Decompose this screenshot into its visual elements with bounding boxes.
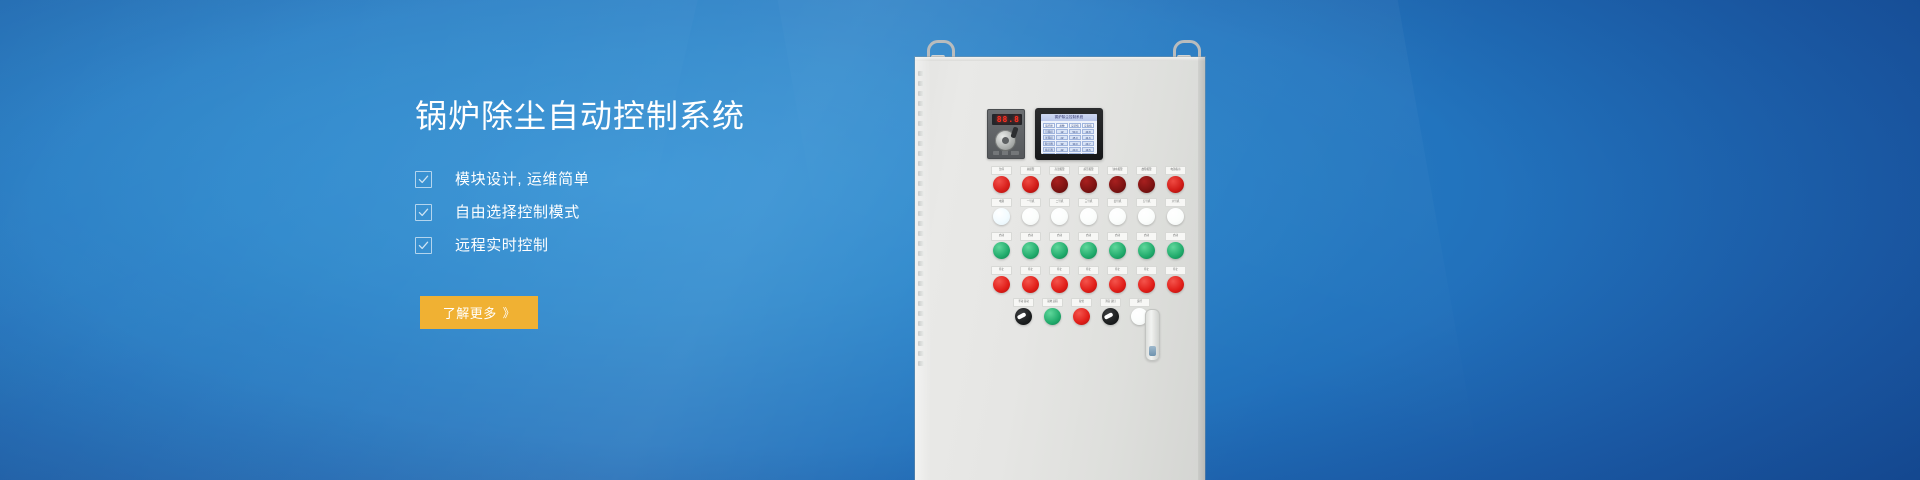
push-button-icon[interactable] xyxy=(1109,276,1126,293)
hinge-segment xyxy=(918,81,924,86)
panel-button-label: 消音 试灯 xyxy=(1100,298,1121,307)
learn-more-label: 了解更多 xyxy=(443,303,497,322)
hmi-table-row: 运行状态参数设定值实际值 xyxy=(1043,123,1095,128)
indicator-icon[interactable] xyxy=(1051,208,1068,225)
hinge-segment xyxy=(918,131,924,136)
cabinet-body: 88.8 锅炉除尘控制系统 运行状态参数设定值实际值引风机1#50.049.8送… xyxy=(915,57,1205,480)
hmi-table-cell: 设定值 xyxy=(1069,123,1081,128)
hmi-table-cell: — xyxy=(1056,153,1068,154)
emergency-stop-icon[interactable] xyxy=(993,176,1010,193)
panel-button-label: 启动 xyxy=(1136,232,1157,241)
checkbox-check-icon xyxy=(415,204,432,221)
hinge-segment xyxy=(918,151,924,156)
panel-button-label: 启动 xyxy=(1078,232,1099,241)
panel-button-label: 急停 xyxy=(991,166,1012,175)
panel-button-label: 停止 xyxy=(1078,266,1099,275)
vfd-led-display: 88.8 xyxy=(992,114,1022,125)
hmi-table-row: 送风机2#45.044.6 xyxy=(1043,135,1095,140)
push-button-icon[interactable] xyxy=(1167,242,1184,259)
hmi-table-cell: 参数 xyxy=(1056,123,1068,128)
vfd-keypad[interactable] xyxy=(993,151,1019,155)
push-button-icon[interactable] xyxy=(1080,276,1097,293)
push-button-icon[interactable] xyxy=(1167,276,1184,293)
indicator-icon[interactable] xyxy=(1051,176,1068,193)
hmi-table-cell: 实际值 xyxy=(1082,123,1094,128)
push-button-icon[interactable] xyxy=(1109,242,1126,259)
panel-button-label: 停止 xyxy=(991,266,1012,275)
indicator-icon[interactable] xyxy=(1109,208,1126,225)
panel-button-label: 就地 远程 xyxy=(1042,298,1063,307)
hmi-table-cell: 除尘器 xyxy=(1043,141,1055,146)
hmi-screen-title: 锅炉除尘控制系统 xyxy=(1041,114,1097,121)
selector-switch-icon[interactable] xyxy=(1102,308,1119,325)
hmi-table-cell: 运行状态 xyxy=(1043,123,1055,128)
hmi-table-cell: 44.6 xyxy=(1082,135,1094,140)
hinge-segment xyxy=(918,341,924,346)
hinge-segment xyxy=(918,121,924,126)
hinge-segment xyxy=(918,101,924,106)
indicator-icon[interactable] xyxy=(1080,176,1097,193)
hinge-segment xyxy=(918,91,924,96)
learn-more-button[interactable]: 了解更多 》 xyxy=(420,296,538,329)
push-button-icon[interactable] xyxy=(1080,242,1097,259)
panel-button-label: 停止 xyxy=(1107,266,1128,275)
hmi-table-cell: 报警 xyxy=(1043,153,1055,154)
vfd-dial-pointer-icon xyxy=(1010,126,1018,138)
cabinet-top-edge xyxy=(915,57,1205,61)
indicator-icon[interactable] xyxy=(1167,208,1184,225)
hmi-table-row: 引风机1#50.049.8 xyxy=(1043,129,1095,134)
hinge-segment xyxy=(918,141,924,146)
hmi-data-table: 运行状态参数设定值实际值引风机1#50.049.8送风机2#45.044.6除尘… xyxy=(1043,123,1095,152)
checkbox-check-icon xyxy=(415,171,432,188)
list-item: 模块设计, 运维简单 xyxy=(415,163,935,196)
indicator-icon[interactable] xyxy=(1109,176,1126,193)
hmi-table-cell: 30.0 xyxy=(1069,141,1081,146)
panel-button-label: 停止 xyxy=(1165,266,1186,275)
panel-button-label: 电源指示 xyxy=(1165,166,1186,175)
push-button-icon[interactable] xyxy=(1138,242,1155,259)
feature-list: 模块设计, 运维简单 自由选择控制模式 远程实时控制 xyxy=(415,163,935,262)
panel-button-label: 运行 xyxy=(1129,298,1150,307)
banner-stage: 锅炉除尘自动控制系统 模块设计, 运维简单 自由选择控制模式 远程实时控制 xyxy=(0,0,1920,480)
hmi-touchscreen[interactable]: 锅炉除尘控制系统 运行状态参数设定值实际值引风机1#50.049.8送风机2#4… xyxy=(1035,108,1103,160)
hinge-segment xyxy=(918,161,924,166)
hinge-segment xyxy=(918,361,924,366)
hmi-table-cell: 振打器 xyxy=(1043,147,1055,152)
panel-button-label: 六号机 xyxy=(1165,198,1186,207)
hmi-table-cell: 49.8 xyxy=(1082,129,1094,134)
push-button-icon[interactable] xyxy=(993,276,1010,293)
panel-button-label: 停止 xyxy=(1136,266,1157,275)
panel-button-label: 一号机 xyxy=(1020,198,1041,207)
list-item: 远程实时控制 xyxy=(415,229,935,262)
vfd-display-value: 88.8 xyxy=(997,116,1020,124)
hmi-table-cell: 引风机 xyxy=(1043,129,1055,134)
panel-button-label: 启动 xyxy=(991,232,1012,241)
panel-button-label: 启动 xyxy=(1049,232,1070,241)
hinge-segment xyxy=(918,351,924,356)
hmi-table-cell: 送风机 xyxy=(1043,135,1055,140)
hmi-table-cell: 29.7 xyxy=(1082,141,1094,146)
start-button-row: 启动启动启动启动启动启动启动 xyxy=(915,241,1205,269)
indicator-icon[interactable] xyxy=(1044,308,1061,325)
power-indicator-row: 电源一号机二号机三号机四号机五号机六号机 xyxy=(915,207,1205,235)
control-cabinet-image: 88.8 锅炉除尘控制系统 运行状态参数设定值实际值引风机1#50.049.8送… xyxy=(905,0,1225,480)
push-button-icon[interactable] xyxy=(1022,276,1039,293)
panel-button-label: 停止 xyxy=(1020,266,1041,275)
panel-button-label: 停止 xyxy=(1049,266,1070,275)
checkbox-check-icon xyxy=(415,237,432,254)
panel-button-label: 高温报警 xyxy=(1049,166,1070,175)
push-button-icon[interactable] xyxy=(1073,308,1090,325)
push-button-icon[interactable] xyxy=(1138,276,1155,293)
panel-button-label: 四号机 xyxy=(1107,198,1128,207)
hmi-table-row: 报警—0正常 xyxy=(1043,153,1095,154)
door-handle[interactable] xyxy=(1145,309,1160,361)
panel-button-label: 启动 xyxy=(1165,232,1186,241)
push-button-icon[interactable] xyxy=(1022,242,1039,259)
indicator-icon[interactable] xyxy=(1167,176,1184,193)
panel-button-label: 启动 xyxy=(1107,232,1128,241)
indicator-icon[interactable] xyxy=(1080,208,1097,225)
indicator-icon[interactable] xyxy=(1022,176,1039,193)
panel-button-label: 缺水报警 xyxy=(1107,166,1128,175)
panel-button-label: 总报警 xyxy=(1020,166,1041,175)
vfd-inverter-module[interactable]: 88.8 xyxy=(987,109,1025,159)
selector-switch-row: 手动 自动就地 远程复位消音 试灯运行 xyxy=(915,307,1205,335)
feature-label-2: 自由选择控制模式 xyxy=(455,205,580,220)
hinge-segment xyxy=(918,111,924,116)
panel-button-label: 故障报警 xyxy=(1136,166,1157,175)
hmi-table-cell: 20.0 xyxy=(1069,147,1081,152)
panel-button-label: 二号机 xyxy=(1049,198,1070,207)
push-button-icon[interactable] xyxy=(1051,276,1068,293)
hmi-table-cell: 0 xyxy=(1069,153,1081,154)
indicator-icon[interactable] xyxy=(1138,208,1155,225)
banner-copy: 锅炉除尘自动控制系统 模块设计, 运维简单 自由选择控制模式 远程实时控制 xyxy=(415,96,935,262)
hmi-table-cell: 19.5 xyxy=(1082,147,1094,152)
indicator-icon[interactable] xyxy=(993,208,1010,225)
hmi-table-cell: 2# xyxy=(1056,135,1068,140)
selector-switch-icon[interactable] xyxy=(1015,308,1032,325)
panel-button-label: 三号机 xyxy=(1078,198,1099,207)
indicator-icon[interactable] xyxy=(1022,208,1039,225)
panel-button-label: 五号机 xyxy=(1136,198,1157,207)
panel-button-label: 电源 xyxy=(991,198,1012,207)
hmi-screen[interactable]: 锅炉除尘控制系统 运行状态参数设定值实际值引风机1#50.049.8送风机2#4… xyxy=(1041,114,1097,154)
feature-label-3: 远程实时控制 xyxy=(455,238,549,253)
push-button-icon[interactable] xyxy=(1051,242,1068,259)
hmi-table-cell: 50.0 xyxy=(1069,129,1081,134)
panel-button-label: 复位 xyxy=(1071,298,1092,307)
indicator-icon[interactable] xyxy=(1138,176,1155,193)
feature-label-1: 模块设计, 运维简单 xyxy=(455,172,589,187)
page-title: 锅炉除尘自动控制系统 xyxy=(415,96,935,136)
panel-button-label: 手动 自动 xyxy=(1013,298,1034,307)
hmi-table-row: 振打器4#20.019.5 xyxy=(1043,147,1095,152)
chevron-right-icon: 》 xyxy=(503,304,516,321)
push-button-icon[interactable] xyxy=(993,242,1010,259)
panel-button-label: 超压报警 xyxy=(1078,166,1099,175)
hinge-segment xyxy=(918,71,924,76)
hmi-table-cell: 1# xyxy=(1056,129,1068,134)
hmi-table-cell: 正常 xyxy=(1082,153,1094,154)
hmi-table-cell: 3# xyxy=(1056,141,1068,146)
panel-button-label: 启动 xyxy=(1020,232,1041,241)
list-item: 自由选择控制模式 xyxy=(415,196,935,229)
hmi-table-row: 除尘器3#30.029.7 xyxy=(1043,141,1095,146)
hmi-table-cell: 45.0 xyxy=(1069,135,1081,140)
hmi-table-cell: 4# xyxy=(1056,147,1068,152)
